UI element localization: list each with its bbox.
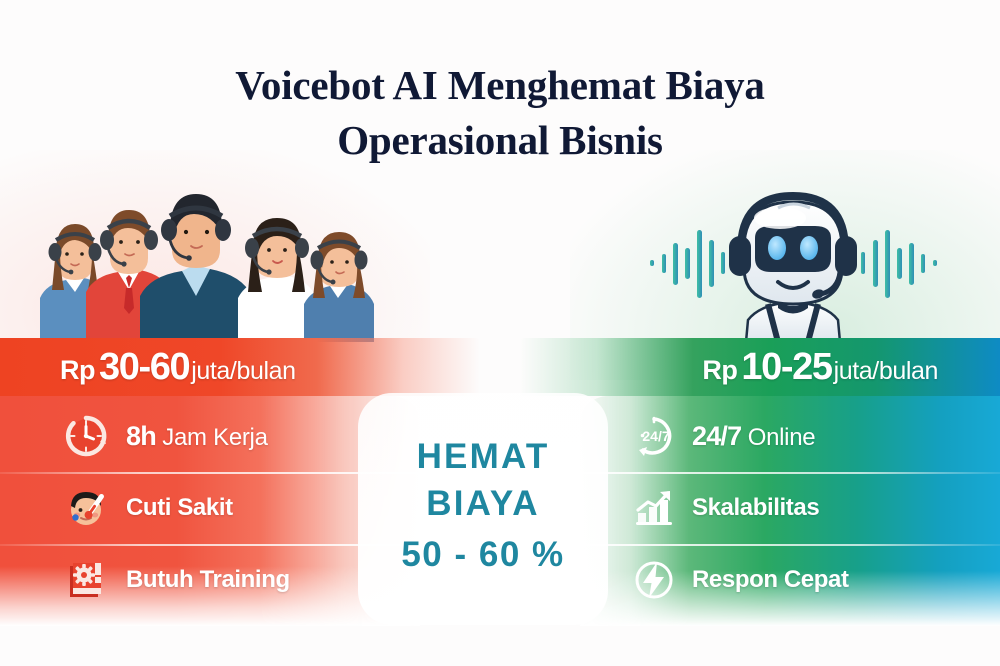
list-item-label: Skalabilitas [692,494,819,522]
list-item: 8h Jam Kerja [62,400,362,472]
book-gear-icon [62,556,110,604]
savings-line-3: 50 - 60 % [401,529,564,582]
savings-card: HEMAT BIAYA 50 - 60 % [358,393,608,625]
title-line-1: Voicebot AI Menghemat Biaya [235,62,764,108]
list-item-label: Cuti Sakit [126,494,233,522]
sick-face-icon [62,484,110,532]
left-price-band: Rp30-60juta/bulan [0,338,480,396]
list-item-rest: Online [748,424,816,451]
list-item-label: 8h Jam Kerja [126,421,268,452]
list-item-label: Respon Cepat [692,566,849,594]
left-price-unit: juta/bulan [191,357,295,385]
list-item: Respon Cepat [630,544,940,616]
ai-robot-headset-illustration [628,186,958,342]
list-item-lead: 24/7 [692,421,741,451]
page-title: Voicebot AI Menghemat Biaya Operasional … [0,58,1000,167]
right-price-unit: juta/bulan [834,357,938,385]
list-item: Butuh Training [62,544,362,616]
lightning-bolt-icon [630,556,678,604]
left-price-amount: 30-60 [99,346,189,388]
left-price-currency: Rp [60,355,95,385]
svg-text:24/7: 24/7 [642,428,669,444]
waveform-left [650,230,737,298]
waveform-right [849,230,937,298]
call-center-team-illustration [22,186,382,342]
list-item: 24/7 24/7 Online [630,400,940,472]
right-price-currency: Rp [702,355,737,385]
list-item-label: Butuh Training [126,566,290,594]
growth-chart-icon [630,484,678,532]
savings-line-2: BIAYA [426,483,539,526]
right-price-amount: 10-25 [741,346,831,388]
clock-icon [62,412,110,460]
list-item-rest: Jam Kerja [162,424,267,451]
title-line-2: Operasional Bisnis [0,113,1000,168]
left-price-text: Rp30-60juta/bulan [60,346,296,389]
right-feature-list: 24/7 24/7 Online Skalabilitas [630,400,940,616]
infographic-root: Voicebot AI Menghemat Biaya Operasional … [0,0,1000,666]
list-item-lead: 8h [126,421,156,451]
list-item: Skalabilitas [630,472,940,544]
right-price-text: Rp10-25juta/bulan [702,346,938,389]
left-feature-list: 8h Jam Kerja [62,400,362,616]
savings-line-1: HEMAT [417,436,550,479]
right-price-band: Rp10-25juta/bulan [520,338,1000,396]
list-item: Cuti Sakit [62,472,362,544]
list-item-label: 24/7 Online [692,421,815,452]
clock-247-icon: 24/7 [630,412,678,460]
